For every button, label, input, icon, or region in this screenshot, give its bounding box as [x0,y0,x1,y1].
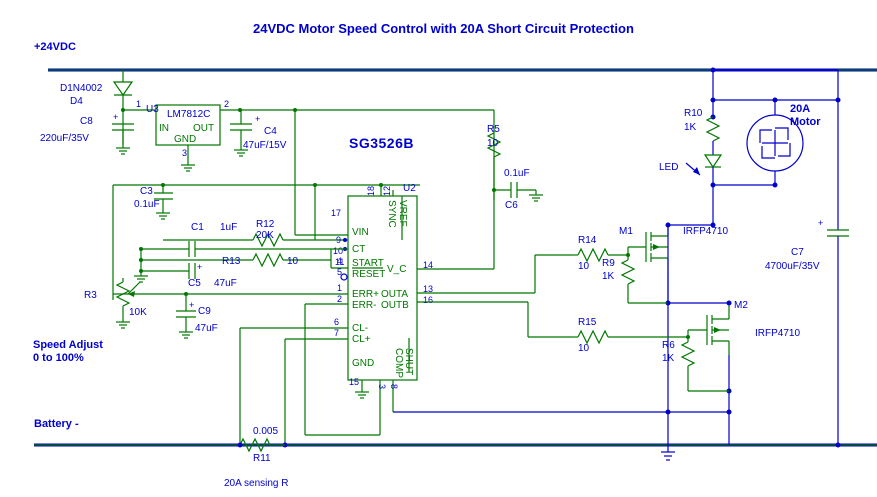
C7-polarity-plus-icon: + [818,218,823,228]
U2-pin-9-num: 9 [336,235,341,245]
junction-dot-icon [773,183,778,188]
potentiometer-R3-ref: R3 [84,290,97,301]
capacitor-C8-value: 220uF/35V [40,133,89,144]
resistor-R9-value: 1K [602,271,615,282]
U2-pin-comp-name: COMP [393,348,404,378]
capacitor-C5-ref: C5 [188,278,201,289]
U2-pin-6-num: 6 [334,317,339,327]
resistor-R9 [622,255,668,303]
ground-icon-C3 [156,213,170,219]
U2-pin-15-num: 15 [349,377,359,387]
U2-pin-7-num: 7 [334,328,339,338]
U3-pin-2-num: 2 [224,99,229,109]
mosfet-M1 [628,224,668,272]
diode-D4 [114,70,132,103]
U2-pin-vc-name: V_C [387,264,406,275]
resistor-R12-ref: R12 [256,219,275,230]
resistor-R5-ref: R5 [487,124,500,135]
capacitor-C5-value: 47uF [214,278,237,289]
resistor-R13-value: 10 [287,256,299,267]
U2-pin-17-num: 17 [331,208,341,218]
resistor-R14-ref: R14 [578,235,597,246]
motor-rating-label: 20A [790,103,810,115]
ground-icon-C6 [529,190,543,201]
U3-pin-1-num: 1 [136,99,141,109]
capacitor-C3-ref: C3 [140,186,153,197]
ground-icon-power-stage [661,445,675,460]
inverting-bubble-icon [341,274,347,280]
capacitor-C1-value: 1uF [220,222,237,233]
motor-name-label: Motor [790,116,821,128]
circuit-schematic-svg: 24VDC Motor Speed Control with 20A Short… [0,0,877,497]
U2-pin-start-name: START [352,258,384,269]
U2-pin-4-num: 4 [337,256,342,266]
resistor-R14-value: 10 [578,261,590,272]
junction-dot-icon [727,410,732,415]
resistor-R13 [253,254,283,266]
resistor-R15-ref: R15 [578,317,597,328]
U2-pin-3-num: 3 [377,384,387,389]
C8-polarity-plus-icon: + [113,112,118,122]
led-indicator [686,155,721,185]
U3-pin-gnd-name: GND [174,134,196,145]
controller-name-label: SG3526B [349,135,414,151]
U2-pin-reset-name: RESET [352,269,385,280]
diode-D4-ref-label: D4 [70,96,83,107]
controller-U2-ref: U2 [403,183,416,194]
resistor-R15 [578,331,608,343]
U2-pin-clm-name: CL- [352,323,368,334]
resistor-R6 [682,337,729,391]
ground-icon-U2 [355,392,369,398]
resistor-R13-ref: R13 [222,256,241,267]
resistor-R6-ref: R6 [662,340,675,351]
capacitor-C7-ref: C7 [791,247,804,258]
capacitor-C5 [141,263,195,279]
resistor-R5-value: 10 [487,138,499,149]
capacitor-C1 [141,241,321,257]
capacitor-C9-value: 47uF [195,323,218,334]
resistor-R10-ref: R10 [684,108,703,119]
U2-pin-ct-name: CT [352,244,365,255]
mosfet-M2 [688,303,729,355]
schematic-canvas: 24VDC Motor Speed Control with 20A Short… [0,0,877,497]
ground-icon-U3 [181,165,195,171]
junction-dot-icon [836,443,841,448]
mosfet-M2-part: IRFP4710 [755,328,800,339]
potentiometer-R3-value: 10K [129,307,147,318]
junction-dot-icon [711,98,716,103]
capacitor-C6 [494,182,536,198]
U3-pin-in-name: IN [159,123,169,134]
junction-dot-icon [711,223,716,228]
ground-icon-C9 [179,332,193,338]
rail-label-positive: +24VDC [34,41,76,53]
U2-pin-outa-name: OUTA [381,289,408,300]
speed-adjust-note-line1: Speed Adjust [33,339,103,351]
U2-pin-10-num: 10 [333,246,343,256]
junction-dot-icon [238,443,243,448]
U2-pin-8-num: 8 [389,384,399,389]
U2-pin-gnd-name: GND [352,358,374,369]
regulator-U3-ref: U3 [146,104,159,115]
capacitor-C7-value: 4700uF/35V [765,261,820,272]
C4-polarity-plus-icon: + [255,114,260,124]
diode-D4-part-label: D1N4002 [60,83,103,94]
page-title: 24VDC Motor Speed Control with 20A Short… [253,21,634,36]
U2-pin-16-num: 16 [423,295,433,305]
resistor-R9-ref: R9 [602,258,615,269]
junction-dot-icon [773,98,778,103]
U2-pin-sync-name: SYNC [386,200,397,228]
U3-pin-out-name: OUT [193,123,214,134]
speed-adjust-note-line2: 0 to 100% [33,352,84,364]
ground-icon-C1C5 [134,276,148,282]
capacitor-C6-ref: C6 [505,200,518,211]
U2-pin-outb-name: OUTB [381,300,409,311]
U2-pin-errm-name: ERR- [352,300,376,311]
capacitor-C3-value: 0.1uF [134,199,160,210]
led-label: LED [659,162,678,173]
junction-dot-icon [727,301,732,306]
capacitor-C6-value: 0.1uF [504,168,530,179]
U2-pin-12-num: 12 [382,186,392,196]
resistor-R10 [707,117,719,141]
resistor-R12-value: 20K [256,230,274,241]
U2-pin-errp-name: ERR+ [352,289,379,300]
junction-dot-icon [343,238,347,242]
capacitor-C9-ref: C9 [198,306,211,317]
rail-label-negative: Battery - [34,418,79,430]
regulator-U3-part: LM7812C [167,109,210,120]
U2-pin-clp-name: CL+ [352,334,371,345]
mosfet-M1-ref: M1 [619,226,633,237]
U2-pin-1-num: 1 [337,283,342,293]
resistor-R11-value: 0.005 [253,426,278,437]
mosfet-M2-ref: M2 [734,300,748,311]
U2-pin-2-num: 2 [337,294,342,304]
resistor-R6-value: 1K [662,353,675,364]
sense-resistor-note: 20A sensing R [224,478,289,489]
capacitor-C1-ref: C1 [191,222,204,233]
C5-polarity-plus-icon: + [197,262,202,272]
junction-dot-icon [121,108,125,112]
C9-polarity-plus-icon: + [189,300,194,310]
mosfet-M1-part: IRFP4710 [683,226,728,237]
capacitor-C8-ref: C8 [80,116,93,127]
ground-icon-C8 [116,148,130,154]
capacitor-C4-ref: C4 [264,126,277,137]
resistor-R10-value: 1K [684,122,697,133]
U2-pin-18-num: 18 [366,186,376,196]
resistor-R15-value: 10 [578,343,590,354]
capacitor-C7 [827,230,849,236]
U3-pin-3-num: 3 [182,148,187,158]
capacitor-C4-value: 47uF/15V [243,140,287,151]
U2-pin-vin-name: VIN [352,227,369,238]
resistor-R11-ref: R11 [253,453,271,464]
ground-icon-R3 [116,322,130,328]
